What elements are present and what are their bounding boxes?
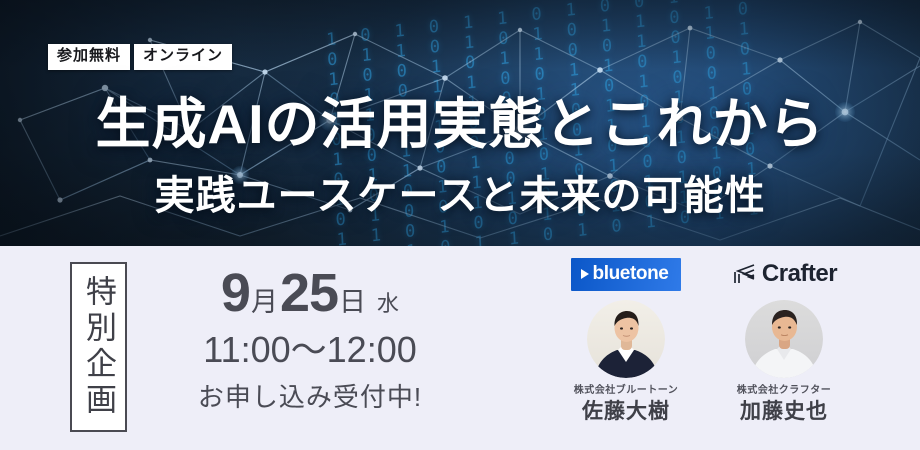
date-weekday: 水 — [377, 293, 399, 315]
speaker-company: 株式会社クラフター — [714, 386, 854, 396]
date-month-unit: 月 — [251, 289, 278, 316]
seminar-banner: 1 0 1 0 1 1 0 1 0 0 1 0 1 0 1 1 0 1 0 1 … — [0, 0, 920, 450]
crafter-logo: Crafter — [714, 254, 854, 294]
bluetone-logo: bluetone — [556, 254, 696, 294]
crafter-logo-text: Crafter — [762, 260, 837, 288]
special-program-label: 特別企画 — [83, 275, 114, 419]
page-subtitle: 実践ユースケースと未来の可能性 — [0, 174, 920, 218]
speaker-company: 株式会社ブルートーン — [556, 386, 696, 396]
date-month-number: 9 — [221, 266, 250, 320]
badge-free: 参加無料 — [48, 44, 130, 70]
page-title: 生成AIの活用実態とこれから — [0, 96, 920, 154]
speaker-name: 加藤史也 — [714, 401, 854, 422]
avatar — [587, 300, 665, 378]
bluetone-logo-badge: bluetone — [571, 258, 682, 291]
speaker-group: bluetone — [540, 254, 870, 422]
bluetone-logo-text: bluetone — [593, 263, 669, 285]
special-program-box: 特別企画 — [70, 262, 127, 432]
speaker-name: 佐藤大樹 — [556, 401, 696, 422]
speaker-card: Crafter — [714, 254, 854, 422]
info-panel: 特別企画 9 月 25 日 水 11:00〜12:00 お申し込み受付中! bl… — [0, 246, 920, 450]
event-time: 11:00〜12:00 — [160, 332, 460, 368]
play-triangle-icon — [581, 269, 589, 279]
event-date: 9 月 25 日 水 — [160, 266, 460, 320]
registration-cta: お申し込み受付中! — [160, 384, 460, 410]
crafter-mark-icon — [731, 262, 757, 286]
badge-group: 参加無料 オンライン — [48, 44, 232, 70]
date-day-number: 25 — [280, 266, 338, 320]
crafter-logo-lockup: Crafter — [731, 260, 837, 288]
event-schedule: 9 月 25 日 水 11:00〜12:00 お申し込み受付中! — [160, 262, 460, 410]
speaker-card: bluetone — [556, 254, 696, 422]
avatar — [745, 300, 823, 378]
avatar-photo-kato — [745, 300, 823, 378]
date-day-unit: 日 — [339, 289, 366, 316]
hero-section: 1 0 1 0 1 1 0 1 0 0 1 0 1 0 1 1 0 1 0 1 … — [0, 0, 920, 246]
avatar-photo-sato — [587, 300, 665, 378]
badge-online: オンライン — [134, 44, 232, 70]
